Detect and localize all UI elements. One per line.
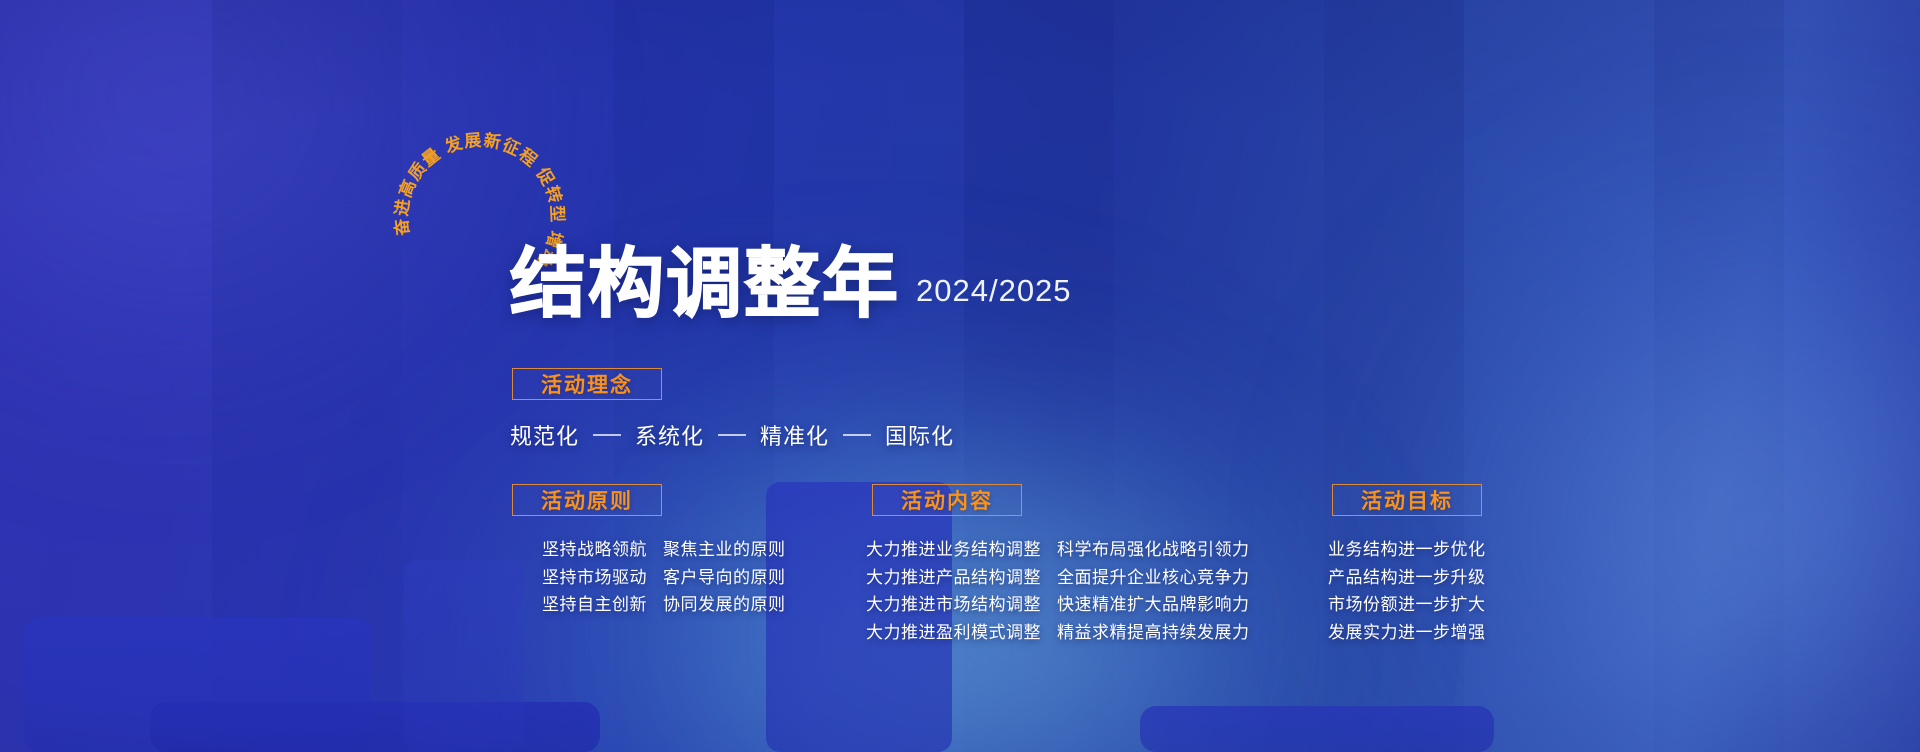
principles-row-1: 坚持市场驱动 客户导向的原则 — [542, 564, 786, 592]
poster-content: 奋进高质量 发展新征程 促转型 增动能 结构调整年 2024/2025 活动理念… — [0, 0, 1920, 752]
column-principles: 坚持战略领航 聚焦主业的原则 坚持市场驱动 客户导向的原则 坚持自主创新 协同发… — [542, 536, 786, 619]
column-contents: 大力推进业务结构调整 科学布局强化战略引领力 大力推进产品结构调整 全面提升企业… — [866, 536, 1250, 646]
concept-item-2: 精准化 — [760, 419, 829, 451]
badge-contents: 活动内容 — [872, 484, 1022, 516]
contents-row-0-right: 科学布局强化战略引领力 — [1057, 536, 1250, 564]
principles-row-2-right: 协同发展的原则 — [663, 591, 786, 619]
contents-row-3: 大力推进盈利模式调整 精益求精提高持续发展力 — [866, 619, 1250, 647]
concept-separator-0 — [593, 434, 621, 436]
concept-separator-2 — [843, 434, 871, 436]
badge-principles: 活动原则 — [512, 484, 662, 516]
contents-row-0-left: 大力推进业务结构调整 — [866, 536, 1041, 564]
contents-row-2: 大力推进市场结构调整 快速精准扩大品牌影响力 — [866, 591, 1250, 619]
contents-row-0: 大力推进业务结构调整 科学布局强化战略引领力 — [866, 536, 1250, 564]
goals-row-2: 市场份额进一步扩大 — [1328, 591, 1486, 619]
goals-row-1: 产品结构进一步升级 — [1328, 564, 1486, 592]
goals-row-1-left: 产品结构进一步升级 — [1328, 564, 1486, 592]
page-title: 结构调整年 — [510, 246, 900, 322]
principles-row-0-right: 聚焦主业的原则 — [663, 536, 786, 564]
contents-row-2-right: 快速精准扩大品牌影响力 — [1057, 591, 1250, 619]
concept-item-0: 规范化 — [510, 419, 579, 451]
concept-separator-1 — [718, 434, 746, 436]
concept-item-3: 国际化 — [885, 419, 954, 451]
column-goals: 业务结构进一步优化 产品结构进一步升级 市场份额进一步扩大 发展实力进一步增强 — [1328, 536, 1486, 646]
principles-row-0-left: 坚持战略领航 — [542, 536, 647, 564]
concept-list: 规范化 系统化 精准化 国际化 — [510, 419, 954, 451]
contents-row-1-right: 全面提升企业核心竞争力 — [1057, 564, 1250, 592]
principles-row-1-right: 客户导向的原则 — [663, 564, 786, 592]
contents-row-3-left: 大力推进盈利模式调整 — [866, 619, 1041, 647]
contents-row-1: 大力推进产品结构调整 全面提升企业核心竞争力 — [866, 564, 1250, 592]
principles-row-1-left: 坚持市场驱动 — [542, 564, 647, 592]
goals-row-0-left: 业务结构进一步优化 — [1328, 536, 1486, 564]
principles-row-2-left: 坚持自主创新 — [542, 591, 647, 619]
principles-row-2: 坚持自主创新 协同发展的原则 — [542, 591, 786, 619]
goals-row-2-left: 市场份额进一步扩大 — [1328, 591, 1486, 619]
badge-goals: 活动目标 — [1332, 484, 1482, 516]
concept-item-1: 系统化 — [635, 419, 704, 451]
goals-row-3: 发展实力进一步增强 — [1328, 619, 1486, 647]
badge-concept: 活动理念 — [512, 368, 662, 400]
contents-row-1-left: 大力推进产品结构调整 — [866, 564, 1041, 592]
contents-row-3-right: 精益求精提高持续发展力 — [1057, 619, 1250, 647]
title-year: 2024/2025 — [916, 273, 1072, 309]
goals-row-0: 业务结构进一步优化 — [1328, 536, 1486, 564]
goals-row-3-left: 发展实力进一步增强 — [1328, 619, 1486, 647]
main-title-row: 结构调整年 2024/2025 — [510, 246, 1072, 322]
poster-canvas: 奋进高质量 发展新征程 促转型 增动能 结构调整年 2024/2025 活动理念… — [0, 0, 1920, 752]
principles-row-0: 坚持战略领航 聚焦主业的原则 — [542, 536, 786, 564]
contents-row-2-left: 大力推进市场结构调整 — [866, 591, 1041, 619]
